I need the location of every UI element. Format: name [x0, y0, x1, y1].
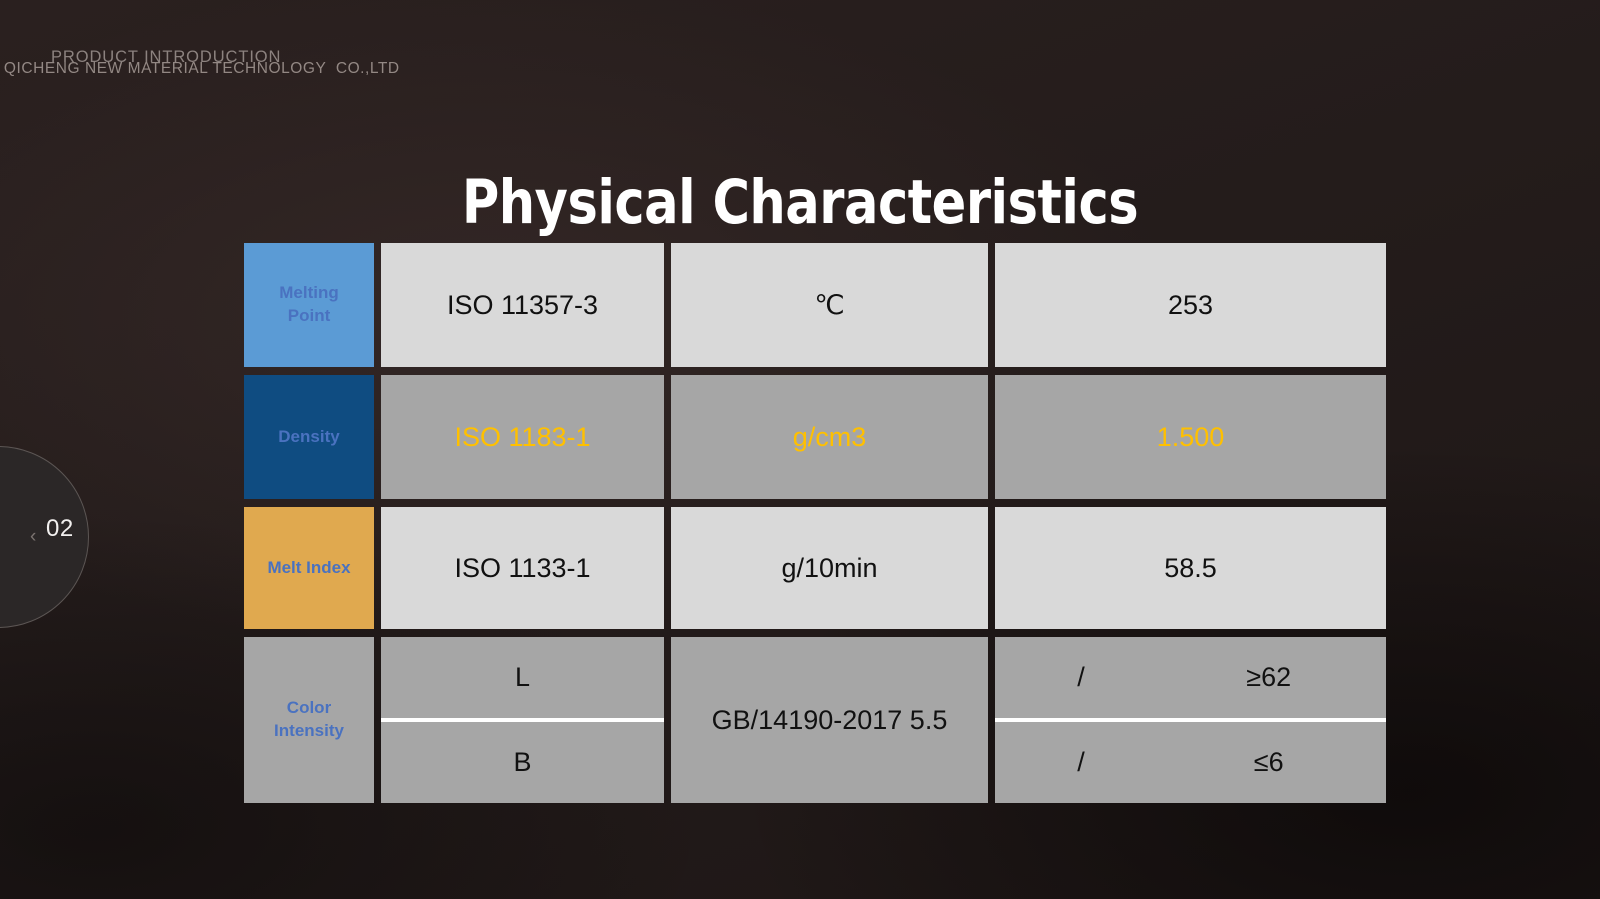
row-standard-color-intensity: L B: [381, 637, 664, 803]
row-value-density: 1.500: [995, 375, 1386, 499]
slide-canvas: PRODUCT INTRODUCTION ZHEJIANG QICHENG NE…: [0, 0, 1600, 899]
value-top-slash: /: [995, 662, 1167, 693]
physical-characteristics-table: Melting Point ISO 11357-3 ℃ 253 Density …: [244, 243, 1386, 803]
row-standard-melting-point: ISO 11357-3: [381, 243, 664, 367]
row-unit-color-intensity: GB/14190-2017 5.5: [671, 637, 988, 803]
page-number-badge[interactable]: ‹ 02: [0, 446, 89, 628]
table-row: Color Intensity L B GB/14190-2017 5.5 / …: [244, 637, 1386, 803]
row-label-density: Density: [244, 375, 374, 499]
row-unit-melting-point: ℃: [671, 243, 988, 367]
table-row: Melting Point ISO 11357-3 ℃ 253: [244, 243, 1386, 367]
row-unit-density: g/cm3: [671, 375, 988, 499]
row-value-melting-point: 253: [995, 243, 1386, 367]
row-standard-density: ISO 1183-1: [381, 375, 664, 499]
row-label-color-intensity: Color Intensity: [244, 637, 374, 803]
page-number-label: 02: [46, 517, 74, 541]
value-row-bottom: / ≤6: [995, 722, 1386, 803]
value-bottom-limit: ≤6: [1167, 747, 1370, 778]
standard-top-L: L: [381, 637, 664, 718]
table-row: Density ISO 1183-1 g/cm3 1.500: [244, 375, 1386, 499]
row-label-melt-index: Melt Index: [244, 507, 374, 629]
value-row-top: / ≥62: [995, 637, 1386, 718]
standard-bottom-B: B: [381, 722, 664, 803]
page-title: Physical Characteristics: [56, 167, 1544, 238]
row-value-melt-index: 58.5: [995, 507, 1386, 629]
row-unit-melt-index: g/10min: [671, 507, 988, 629]
chevron-left-icon[interactable]: ‹: [30, 527, 36, 546]
table-row: Melt Index ISO 1133-1 g/10min 58.5: [244, 507, 1386, 629]
row-value-color-intensity: / ≥62 / ≤6: [995, 637, 1386, 803]
value-bottom-slash: /: [995, 747, 1167, 778]
value-top-limit: ≥62: [1167, 662, 1370, 693]
row-label-melting-point: Melting Point: [244, 243, 374, 367]
header-company-name: ZHEJIANG QICHENG NEW MATERIAL TECHNOLOGY…: [0, 60, 1518, 78]
row-standard-melt-index: ISO 1133-1: [381, 507, 664, 629]
